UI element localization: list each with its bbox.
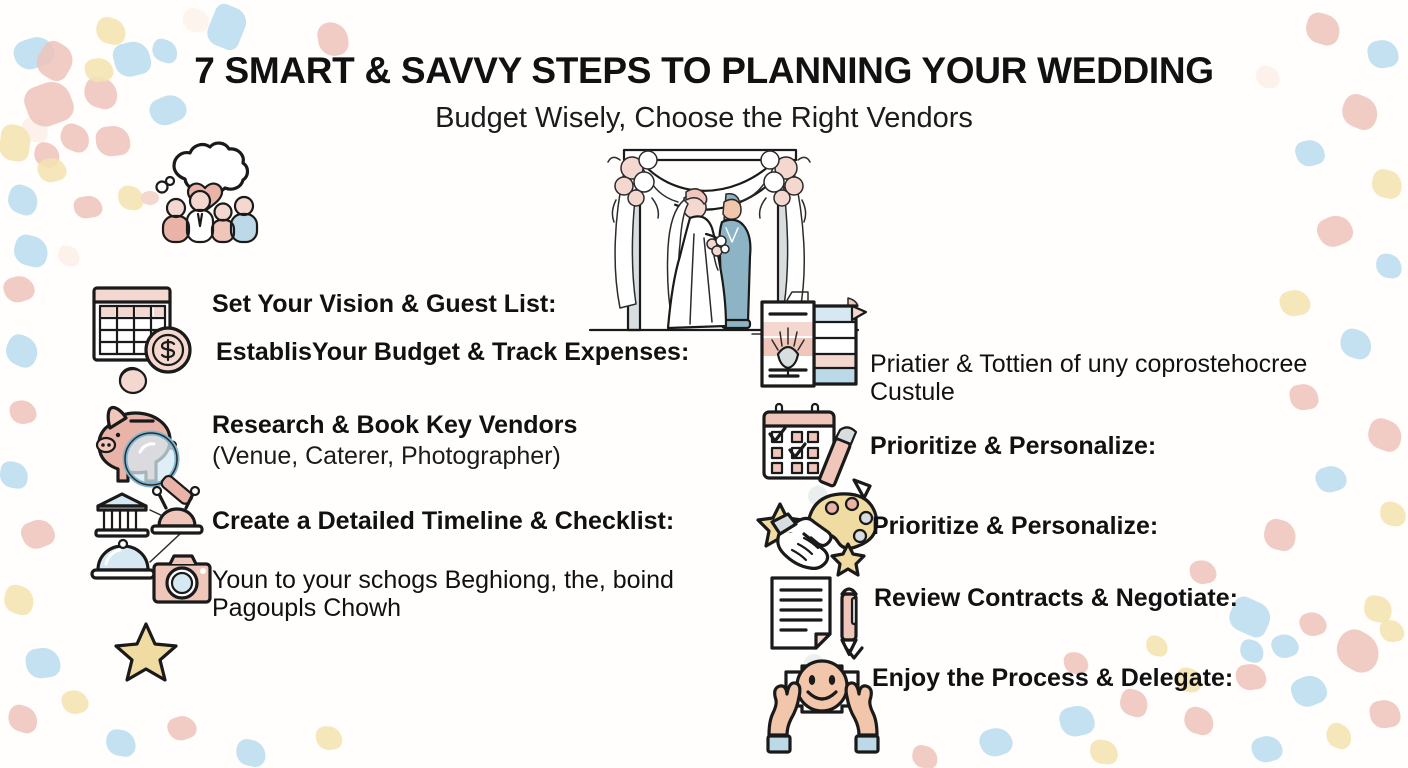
page-subtitle: Budget Wisely, Choose the Right Vendors [0, 103, 1408, 135]
confetti-piece [1293, 137, 1327, 170]
confetti-piece [1, 582, 38, 617]
confetti-piece [1379, 619, 1405, 643]
confetti-piece [72, 194, 103, 221]
step-r2-label: Prioritize & Personalize: [870, 432, 1156, 460]
confetti-piece [1329, 624, 1386, 679]
confetti-piece [1269, 630, 1302, 661]
confetti-piece [8, 398, 38, 427]
step-r3-label: Prioritize & Personalize: [872, 512, 1158, 540]
step-r1-label: Priatier & Tottien of uny coprostehocree… [870, 350, 1340, 406]
handshake-palette-stars-icon [756, 488, 884, 582]
star-icon [114, 620, 178, 682]
step-2-label: EstablisYour Budget & Track Expenses: [216, 338, 689, 366]
confetti-piece [1145, 634, 1170, 657]
venue-catering-camera-icon [88, 486, 223, 608]
step-5-label: Youn to your schogs Beghiong, the, boind… [212, 566, 702, 622]
confetti-piece [1370, 167, 1405, 200]
calendar-checklist-pencil-icon [758, 402, 876, 496]
confetti-piece [35, 155, 69, 186]
confetti-piece [1249, 732, 1285, 765]
confetti-piece [1336, 326, 1375, 363]
confetti-piece [910, 743, 940, 768]
confetti-piece [1313, 462, 1350, 496]
confetti-piece [1364, 415, 1406, 455]
confetti-piece [59, 687, 90, 717]
invitation-moodboard-icon [752, 292, 867, 397]
confetti-piece [94, 15, 129, 47]
confetti-piece [1297, 609, 1328, 639]
confetti-piece [315, 725, 343, 752]
confetti-piece [165, 712, 200, 744]
confetti-piece [18, 515, 58, 553]
confetti-piece [1181, 705, 1217, 738]
infographic-poster: 7 SMART & SAVVY STEPS TO PLANNING YOUR W… [0, 0, 1408, 768]
hands-smiley-icon [762, 648, 884, 758]
confetti-piece [1323, 720, 1356, 752]
step-1-label: Set Your Vision & Guest List: [212, 290, 557, 318]
step-3-sublabel: (Venue, Caterer, Photographer) [212, 442, 561, 470]
confetti-piece [11, 232, 52, 270]
confetti-piece [1375, 253, 1404, 280]
confetti-piece [1261, 517, 1299, 554]
confetti-piece [1, 272, 38, 306]
confetti-piece [0, 460, 30, 490]
step-r5-label: Enjoy the Process & Delegate: [872, 664, 1233, 692]
confetti-piece [1362, 594, 1394, 624]
confetti-piece [1379, 501, 1407, 528]
confetti-piece [234, 737, 269, 768]
confetti-piece [5, 702, 42, 736]
confetti-piece [1235, 662, 1268, 691]
confetti-piece [183, 8, 209, 32]
confetti-piece [1303, 10, 1344, 48]
confetti-piece [1313, 210, 1356, 251]
confetti-piece [1278, 287, 1313, 319]
confetti-piece [1057, 703, 1097, 740]
confetti-piece [203, 1, 250, 53]
confetti-piece [1288, 671, 1331, 712]
step-r4-label: Review Contracts & Negotiate: [874, 584, 1238, 612]
confetti-piece [1188, 558, 1218, 587]
confetti-piece [1089, 739, 1119, 765]
people-thought-heart-icon [132, 140, 272, 250]
confetti-piece [976, 724, 1015, 761]
title-block: 7 SMART & SAVVY STEPS TO PLANNING YOUR W… [0, 52, 1408, 135]
confetti-piece [104, 728, 138, 758]
step-3-label: Research & Book Key Vendors [212, 411, 577, 439]
confetti-piece [4, 182, 42, 219]
confetti-piece [1238, 638, 1266, 665]
step-4-label: Create a Detailed Timeline & Checklist: [212, 507, 674, 535]
confetti-piece [31, 140, 62, 170]
confetti-piece [56, 244, 81, 268]
page-title: 7 SMART & SAVVY STEPS TO PLANNING YOUR W… [0, 52, 1408, 91]
confetti-piece [1, 331, 42, 371]
piggy-bank-magnifier-icon [92, 366, 214, 484]
confetti-piece [1368, 698, 1402, 730]
confetti-piece [24, 646, 62, 680]
